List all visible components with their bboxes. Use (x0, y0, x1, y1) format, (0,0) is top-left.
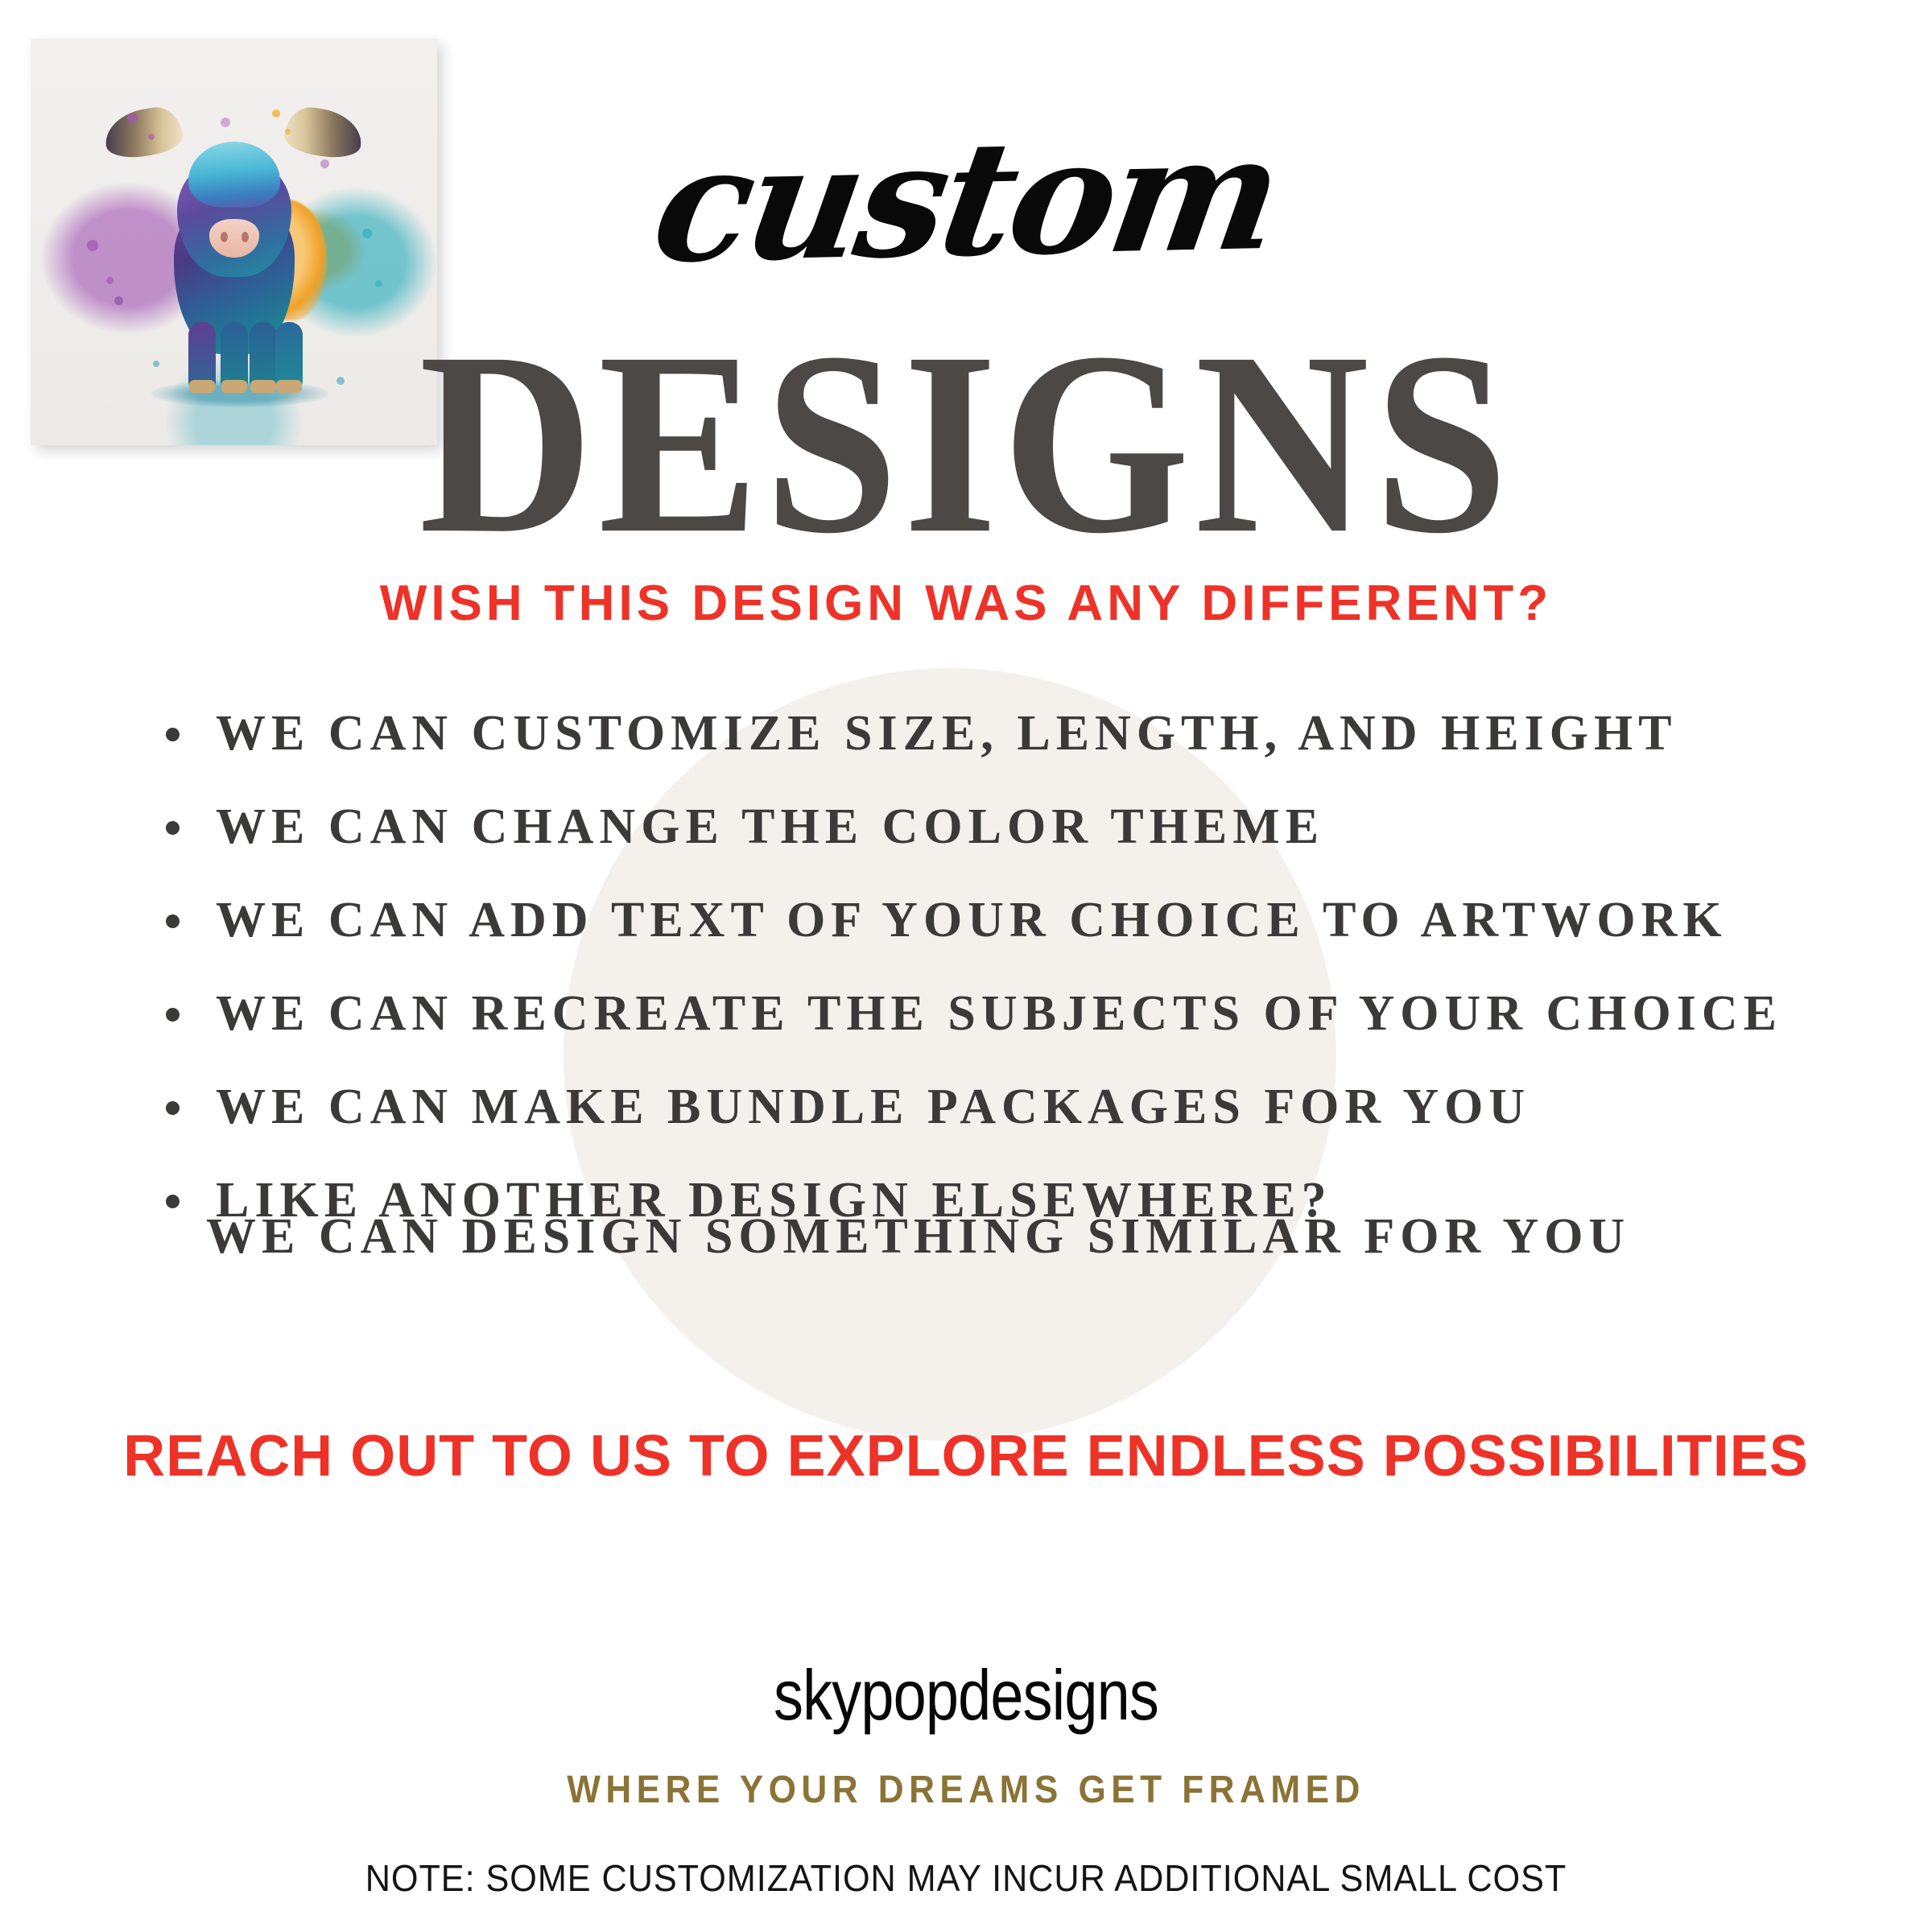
custom-designs-poster: custom DESIGNS WISH THIS DESIGN WAS ANY … (0, 0, 1932, 1932)
bullet-dot-icon (166, 1101, 180, 1115)
page-title-designs: DESIGNS (0, 312, 1932, 573)
brand-tagline: WHERE YOUR DREAMS GET FRAMED (77, 1768, 1855, 1812)
bullet-dot-icon (166, 1008, 180, 1022)
bullet-dot-icon (166, 821, 180, 835)
list-item-label: WE CAN CHANGE THE COLOR THEME (216, 799, 1324, 854)
customization-options-list: WE CAN CUSTOMIZE SIZE, LENGTH, AND HEIGH… (153, 708, 1811, 1269)
call-to-action-text: REACH OUT TO US TO EXPLORE ENDLESS POSSI… (0, 1423, 1932, 1489)
list-item-label: WE CAN ADD TEXT OF YOUR CHOICE TO ARTWOR… (216, 893, 1728, 947)
list-item: WE CAN MAKE BUNDLE PACKAGES FOR YOU (153, 1082, 1811, 1132)
list-item-label: WE CAN MAKE BUNDLE PACKAGES FOR YOU (216, 1080, 1530, 1134)
list-item: WE CAN CHANGE THE COLOR THEME (153, 802, 1811, 852)
bullet-dot-icon (166, 728, 180, 741)
brand-logo-text: skypopdesigns (155, 1654, 1777, 1736)
list-item: WE CAN ADD TEXT OF YOUR CHOICE TO ARTWOR… (153, 895, 1811, 945)
list-item-continuation: WE CAN DESIGN SOMETHING SIMILAR FOR YOU (206, 1212, 1630, 1261)
list-item-label: WE CAN RECREATE THE SUBJECTS OF YOUR CHO… (216, 986, 1782, 1041)
red-subtitle: WISH THIS DESIGN WAS ANY DIFFERENT? (0, 575, 1932, 632)
list-item: WE CAN CUSTOMIZE SIZE, LENGTH, AND HEIGH… (153, 708, 1811, 758)
bullet-dot-icon (166, 914, 180, 928)
bullet-dot-icon (166, 1195, 180, 1208)
list-item: WE CAN RECREATE THE SUBJECTS OF YOUR CHO… (153, 989, 1811, 1038)
footer-note: NOTE: SOME CUSTOMIZATION MAY INCUR ADDIT… (58, 1856, 1874, 1900)
list-item-label: WE CAN CUSTOMIZE SIZE, LENGTH, AND HEIGH… (216, 706, 1678, 761)
